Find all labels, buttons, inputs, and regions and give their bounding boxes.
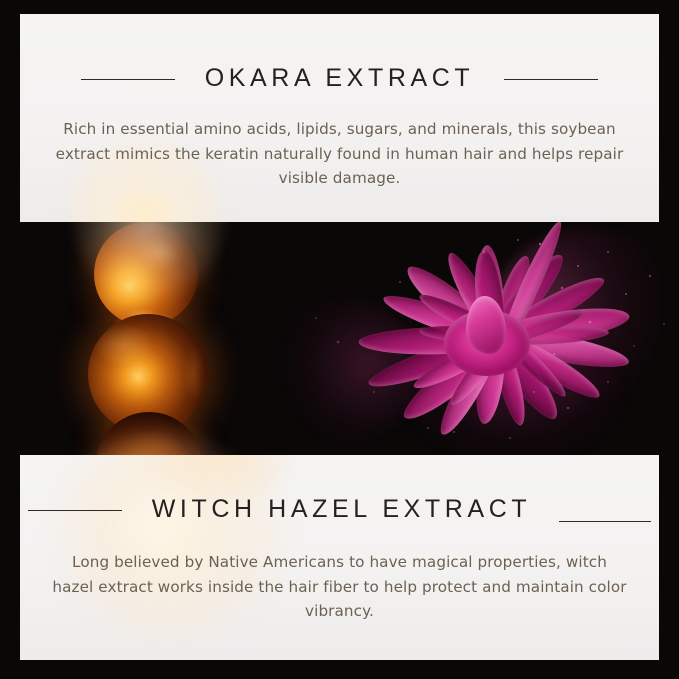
- panel-body: Long believed by Native Americans to hav…: [50, 550, 630, 624]
- heading-rule-right: [559, 521, 651, 522]
- heading-rule-right: [504, 79, 598, 80]
- powder-speckles: [278, 222, 679, 454]
- panel-witch-hazel: WITCH HAZEL EXTRACT Long believed by Nat…: [20, 455, 659, 660]
- heading-okara: OKARA EXTRACT: [20, 66, 659, 93]
- panel-title: WITCH HAZEL EXTRACT: [152, 497, 532, 524]
- heading-rule-left: [28, 510, 122, 511]
- panel-okara: OKARA EXTRACT Rich in essential amino ac…: [20, 14, 659, 222]
- panel-title: OKARA EXTRACT: [205, 66, 475, 93]
- heading-witch-hazel: WITCH HAZEL EXTRACT: [20, 497, 659, 524]
- amber-spheres-photo: [86, 216, 218, 466]
- ingredient-infographic: OKARA EXTRACT Rich in essential amino ac…: [0, 0, 679, 679]
- panel-body: Rich in essential amino acids, lipids, s…: [50, 117, 630, 191]
- magenta-paint-flower-photo: [278, 222, 679, 454]
- heading-rule-left: [81, 79, 175, 80]
- amber-sphere-top: [94, 222, 198, 326]
